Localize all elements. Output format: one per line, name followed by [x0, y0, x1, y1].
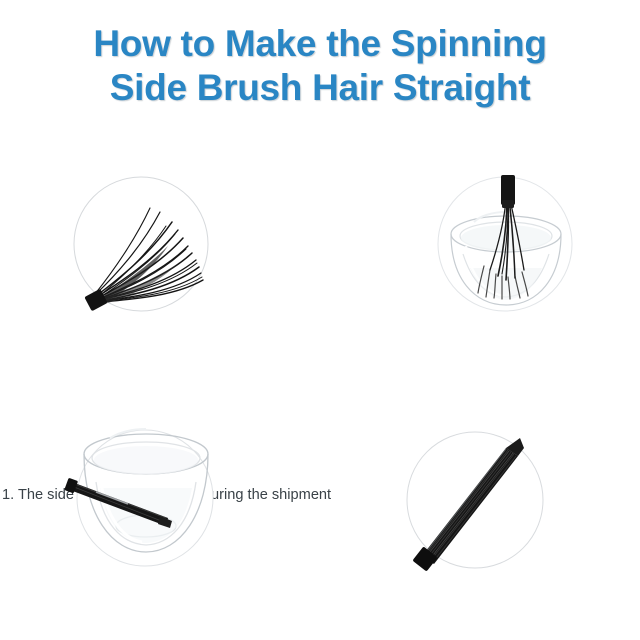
- bent-side-brush-photo: [0, 150, 320, 362]
- brush-soaking-photo: [0, 408, 320, 620]
- page-title-line-2: Side Brush Hair Straight: [0, 66, 640, 110]
- step-panel-2: 2. Put the side brush into hot water: [320, 150, 640, 410]
- page-title: How to Make the Spinning Side Brush Hair…: [0, 22, 640, 110]
- page-title-line-1: How to Make the Spinning: [0, 22, 640, 66]
- step-panel-4: 4. Take it out and shake off excess wate…: [320, 408, 640, 640]
- straightened-brush-photo: [320, 408, 640, 620]
- step-panel-3: 3. Soak the side brush in hot water for …: [0, 408, 320, 640]
- brush-into-hot-water-photo: [320, 150, 640, 362]
- step-panel-1: 1. The side brush may be bent during the…: [0, 150, 320, 410]
- infographic-page: How to Make the Spinning Side Brush Hair…: [0, 0, 640, 640]
